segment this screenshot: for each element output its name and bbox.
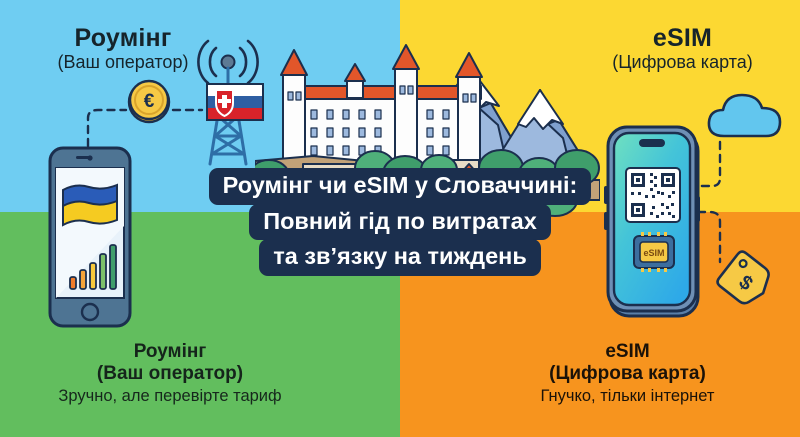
infographic-poster: €	[0, 0, 800, 437]
esim-heading-subtitle: (Цифрова карта)	[575, 52, 790, 72]
price-tag-icon: $	[716, 250, 774, 308]
esim-caption-line-1: eSIM	[455, 341, 800, 363]
bratislava-castle-scene	[255, 28, 600, 218]
slovakia-flag-icon	[207, 84, 263, 120]
roaming-heading-subtitle: (Ваш оператор)	[18, 52, 228, 72]
roaming-caption: Роумінг (Ваш оператор) Зручно, але перев…	[0, 341, 340, 406]
coin-currency-symbol: €	[144, 91, 155, 112]
esim-chip-icon: eSIM	[634, 232, 674, 272]
esim-chip-label: eSIM	[643, 248, 664, 258]
esim-caption-line-2: (Цифрова карта)	[455, 363, 800, 385]
roaming-phone	[48, 146, 132, 328]
esim-heading-title: eSIM	[575, 24, 790, 52]
esim-caption: eSIM (Цифрова карта) Гнучко, тільки інте…	[455, 341, 800, 406]
qr-code-icon	[626, 168, 680, 222]
roaming-caption-line-2: (Ваш оператор)	[0, 363, 340, 385]
ukraine-flag-icon	[63, 185, 117, 225]
roaming-caption-line-3: Зручно, але перевірте тариф	[0, 387, 340, 406]
esim-heading: eSIM (Цифрова карта)	[575, 24, 790, 72]
roaming-caption-line-1: Роумінг	[0, 341, 340, 363]
esim-phone: eSIM	[604, 124, 704, 320]
roaming-heading: Роумінг (Ваш оператор)	[18, 24, 228, 72]
esim-caption-line-3: Гнучко, тільки інтернет	[455, 387, 800, 406]
euro-coin-icon: €	[126, 78, 172, 124]
roaming-heading-title: Роумінг	[18, 24, 228, 52]
